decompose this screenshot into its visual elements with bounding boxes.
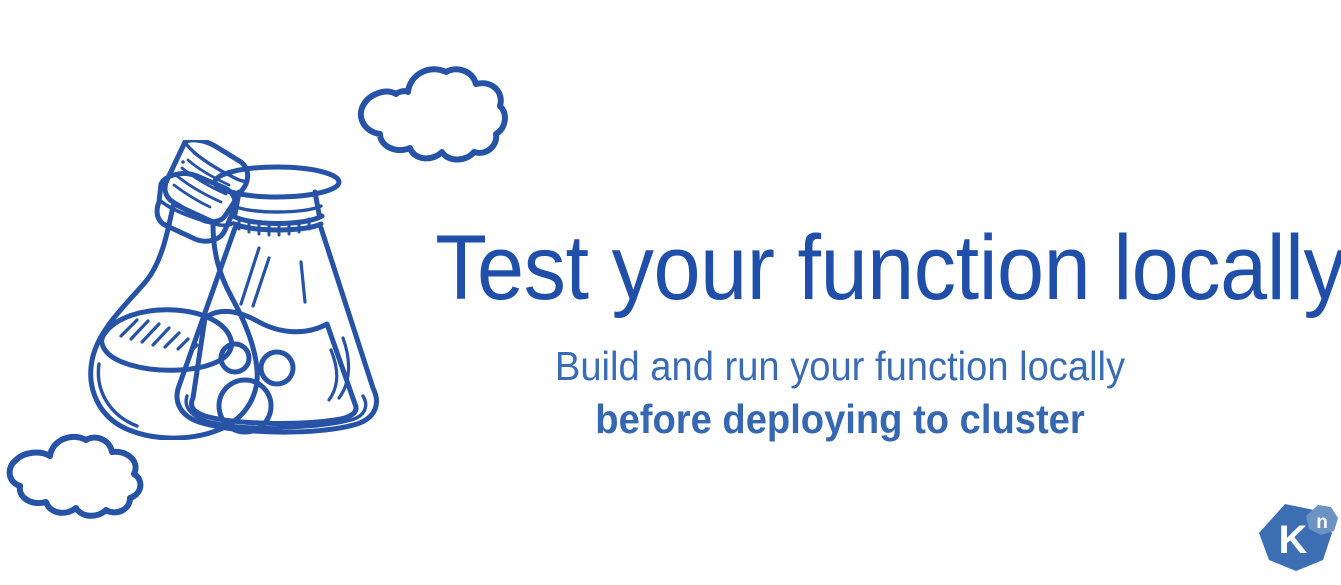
page-title: Test your function locally (435, 222, 1245, 314)
slide-canvas: Test your function locally Build and run… (0, 0, 1341, 585)
knative-logo: K n (1252, 500, 1338, 578)
subtitle-line-1: Build and run your function locally (431, 340, 1249, 393)
text-block: Test your function locally Build and run… (400, 222, 1280, 447)
cloud-doodle-bottom (6, 428, 156, 520)
subtitle-block: Build and run your function locally befo… (400, 340, 1280, 447)
logo-letter-k: K (1279, 518, 1308, 562)
chemistry-flasks-illustration (55, 140, 395, 440)
subtitle-line-2: before deploying to cluster (431, 393, 1249, 446)
cloud-doodle-top (352, 58, 510, 170)
logo-letter-n: n (1316, 512, 1328, 533)
